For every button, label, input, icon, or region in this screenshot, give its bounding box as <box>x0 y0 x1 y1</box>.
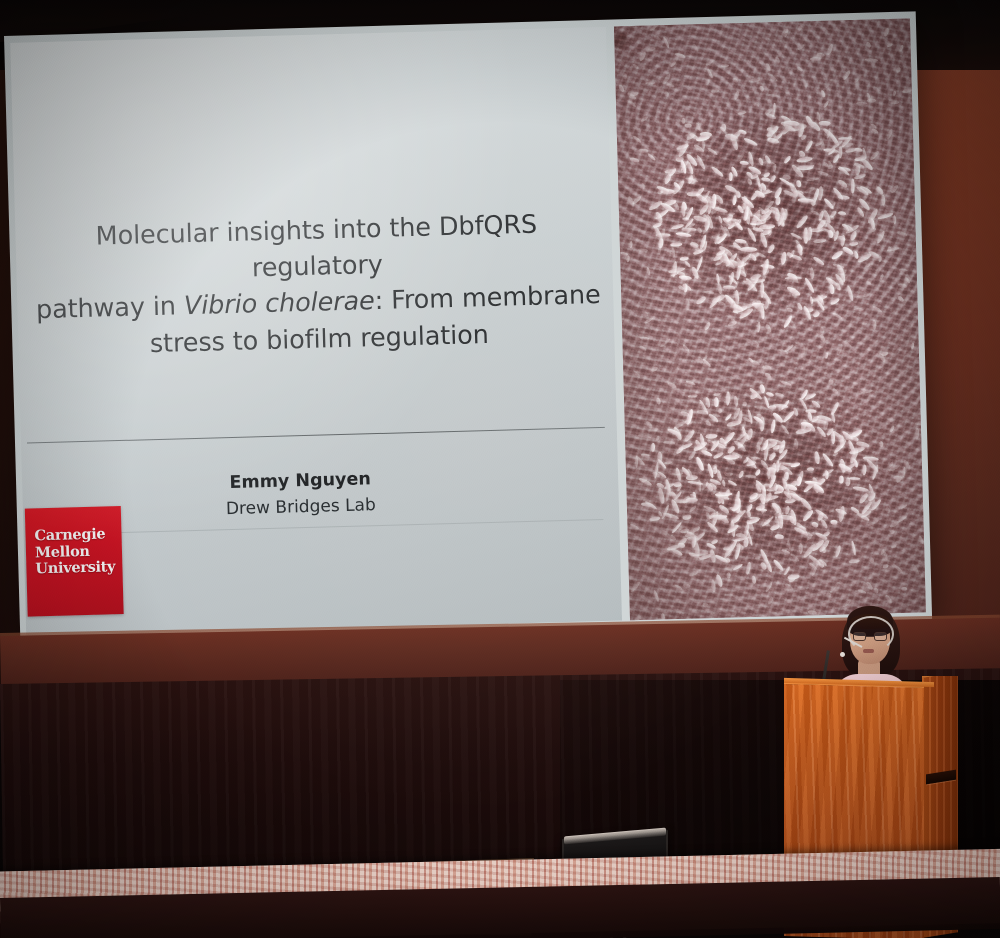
slide-title: Molecular insights into the DbfQRS regul… <box>33 205 603 365</box>
micrograph-noise <box>614 18 926 620</box>
carnegie-mellon-logo: Carnegie Mellon University <box>25 506 124 617</box>
projection-screen: Molecular insights into the DbfQRS regul… <box>4 11 932 643</box>
logo-text: Carnegie Mellon University <box>34 526 115 578</box>
photograph-canvas: Molecular insights into the DbfQRS regul… <box>0 0 1000 938</box>
slide-title-line-3: stress to biofilm regulation <box>149 320 489 359</box>
logo-line-carnegie: Carnegie <box>34 526 114 545</box>
slide-divider-rule <box>27 427 605 444</box>
headset-microphone-icon <box>848 616 894 652</box>
slide-text-panel: Molecular insights into the DbfQRS regul… <box>10 27 622 637</box>
micrograph-panel <box>614 18 926 620</box>
mic-capsule <box>840 652 845 657</box>
slide-title-line-1: Molecular insights into the DbfQRS regul… <box>95 210 537 284</box>
slide-title-line-2-pre: pathway in <box>36 292 185 326</box>
slide-title-line-2-post: : From membrane <box>374 280 601 316</box>
slide-title-species: Vibrio cholerae <box>183 286 375 321</box>
logo-line-university: University <box>35 559 115 578</box>
